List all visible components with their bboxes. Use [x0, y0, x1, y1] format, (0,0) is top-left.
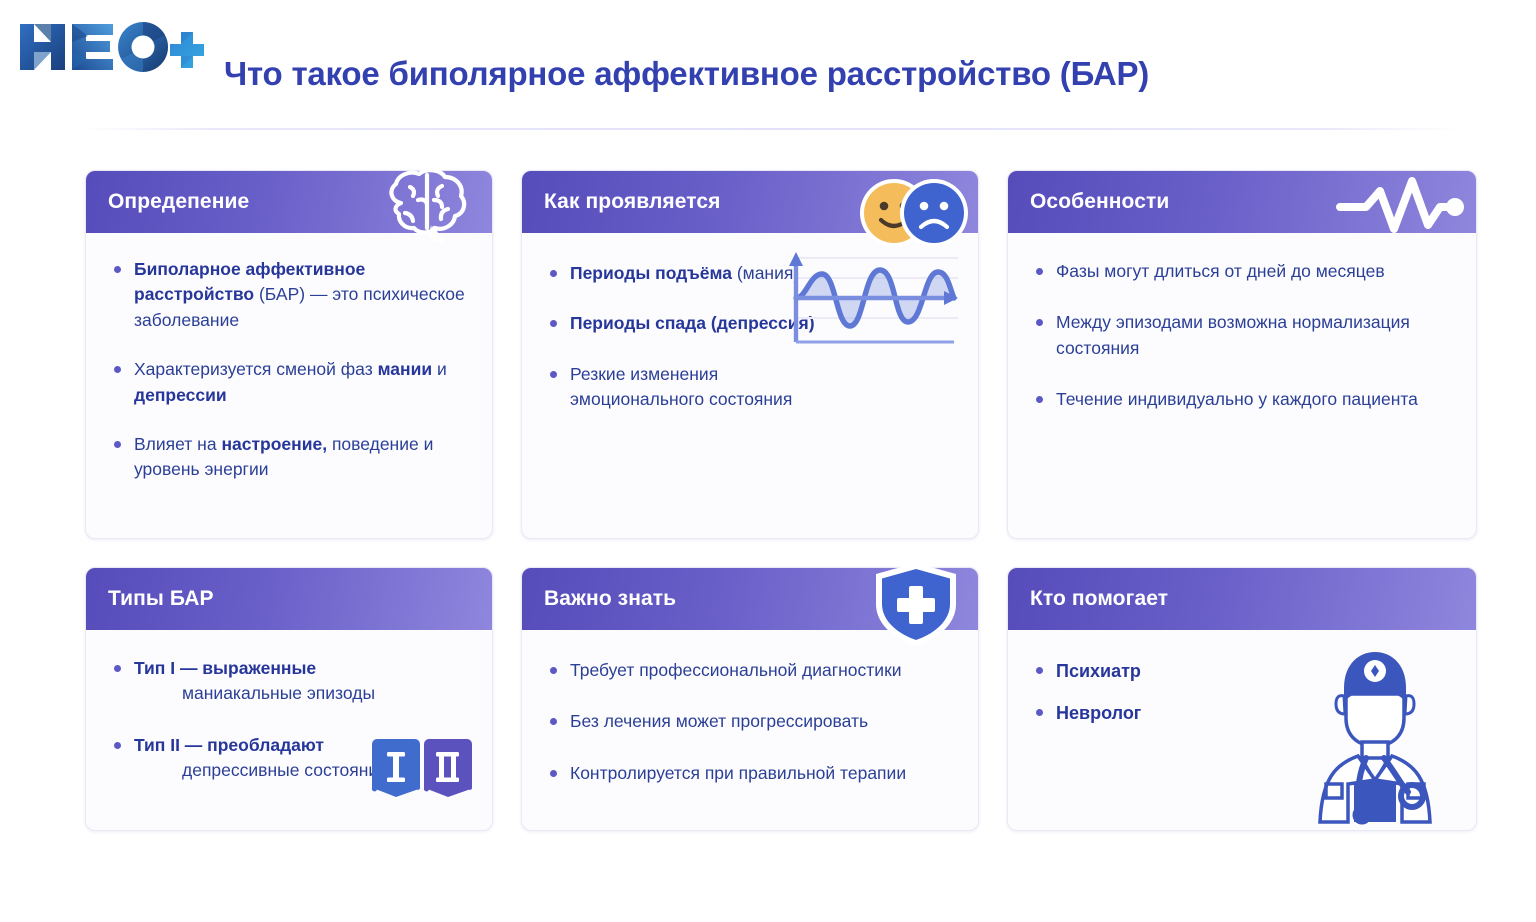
list-item: Характеризуется сменой фаз мании и депре…: [112, 357, 466, 408]
list-item-subline: маниакальные эпизоды: [134, 681, 466, 706]
list-item: Без лечения может прогрессировать: [548, 709, 952, 734]
card-title: Кто помогает: [1030, 587, 1168, 611]
list-item: Резкие изменения эмоционального состояни…: [548, 362, 820, 413]
card-who[interactable]: Кто помогает ПсихиатрНевролог: [1007, 567, 1477, 831]
card-important[interactable]: Важно знать Требует профессиональной диа…: [521, 567, 979, 831]
page-title: Что такое биполярное аффективное расстро…: [224, 55, 1149, 93]
card-body: Фазы могут длиться от дней до месяцевМеж…: [1008, 233, 1476, 449]
card-definition[interactable]: Опредепение: [85, 170, 493, 539]
list-item: Влияет на настроение, поведение и уровен…: [112, 432, 466, 483]
card-header: Как проявляется: [522, 171, 978, 233]
mood-wave-chart: [778, 244, 964, 352]
bullet-list: Биполарное аффективное расстройство (БАР…: [112, 257, 466, 483]
card-title: Особенности: [1030, 190, 1169, 214]
card-body: Требует профессиональной диагностикиБез …: [522, 630, 978, 822]
card-body: Биполарное аффективное расстройство (БАР…: [86, 233, 492, 517]
title-divider: [80, 128, 1458, 130]
neo-plus-logo: [18, 18, 204, 76]
list-item: Требует профессиональной диагностики: [548, 658, 952, 683]
list-item: Контролируется при правильной терапии: [548, 761, 952, 786]
card-header: Особенности: [1008, 171, 1476, 233]
list-item: Тип I — выраженныеманиакальные эпизоды: [112, 656, 466, 707]
card-header: Типы БАР: [86, 568, 492, 630]
list-item: Между эпизодами возможна нормализация со…: [1034, 310, 1450, 361]
infographic-page: Что такое биполярное аффективное расстро…: [0, 0, 1536, 922]
card-header: Кто помогает: [1008, 568, 1476, 630]
type-badges: [370, 738, 474, 800]
card-header: Важно знать: [522, 568, 978, 630]
card-types[interactable]: Типы БАР Тип I — выраженныеманиакальные …: [85, 567, 493, 831]
list-item: Фазы могут длиться от дней до месяцев: [1034, 259, 1450, 284]
card-body: Периоды подъёма (мания)Периоды спада (де…: [522, 233, 978, 448]
bullet-list: Фазы могут длиться от дней до месяцевМеж…: [1034, 259, 1450, 413]
card-title: Важно знать: [544, 587, 676, 611]
list-item: Течение индивидуально у каждого пациента: [1034, 387, 1450, 412]
card-manifest[interactable]: Как проявляется: [521, 170, 979, 539]
card-title: Типы БАР: [108, 587, 214, 611]
card-title: Как проявляется: [544, 190, 720, 214]
card-body: Тип I — выраженныеманиакальные эпизодыТи…: [86, 630, 492, 820]
card-header: Опредепение: [86, 171, 492, 233]
card-features[interactable]: Особенности Фазы могут длиться от дней д…: [1007, 170, 1477, 539]
list-item: Биполарное аффективное расстройство (БАР…: [112, 257, 466, 333]
doctor-icon: [1296, 644, 1454, 826]
cards-grid: Опредепение: [85, 170, 1459, 567]
bullet-list: Требует профессиональной диагностикиБез …: [548, 658, 952, 786]
card-title: Опредепение: [108, 190, 249, 214]
